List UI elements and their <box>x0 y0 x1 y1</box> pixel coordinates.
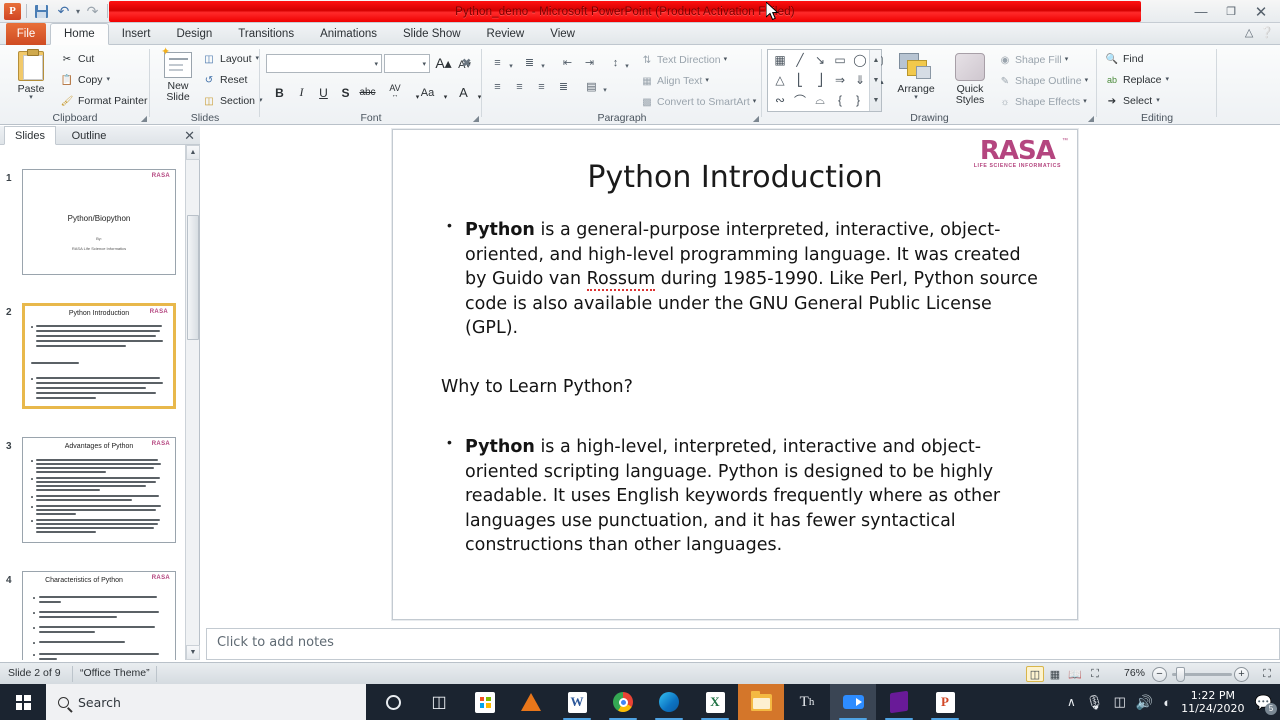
shape-fill-dropdown-icon[interactable]: ▾ <box>1065 57 1069 63</box>
redo-button[interactable]: ↷ <box>83 2 102 20</box>
onenote-icon[interactable] <box>876 684 922 720</box>
window-controls: — ❐ ✕ <box>1186 2 1276 21</box>
shape-triangle-icon[interactable]: △ <box>770 71 790 89</box>
drawing-dialog-launcher[interactable]: ◢ <box>1088 114 1094 123</box>
thumbnail-number: 3 <box>6 441 12 452</box>
paragraph-dialog-launcher[interactable]: ◢ <box>753 114 759 123</box>
numbering-dropdown-icon[interactable]: ▾ <box>538 56 548 75</box>
ribbon-group-editing: 🔍 Find ab Replace ▾ ➔ Select ▾ Editing <box>1097 45 1217 125</box>
slide-editing-area: RASA ™ LIFE SCIENCE INFORMATICS Python I… <box>200 126 1280 660</box>
ribbon-group-clipboard: Paste ▾ ✂ Cut 📋 Copy ▾ 🖌 Format Painter … <box>0 45 150 125</box>
scrollbar-thumb[interactable] <box>187 215 199 340</box>
status-divider-2 <box>156 666 157 682</box>
pane-tab-strip: Slides Outline ✕ <box>0 126 200 145</box>
shape-effects-dropdown-icon[interactable]: ▾ <box>1083 99 1087 105</box>
question-line[interactable]: Why to Learn Python? <box>441 375 1041 400</box>
file-explorer-icon[interactable] <box>738 684 784 720</box>
thumbnail-canvas[interactable]: RASA Python/Biopython By: RASA Life Scie… <box>22 169 176 275</box>
gallery-expand-icon[interactable]: ▼ <box>870 90 882 110</box>
quick-styles-label-2: Styles <box>956 94 985 106</box>
font-size-input[interactable]: ▾ <box>384 54 430 73</box>
windows-taskbar: Search ◫ W X <box>0 684 1280 720</box>
line-spacing-dropdown-icon[interactable]: ▾ <box>622 56 632 75</box>
text-direction-icon: ⇅ <box>640 53 654 67</box>
shape-elbow-icon[interactable]: ⎣ <box>790 71 810 89</box>
close-pane-icon[interactable]: ✕ <box>184 128 195 144</box>
mic-icon[interactable]: 🎙 <box>1086 694 1104 711</box>
thumbnail-subtitle-2: RASA Life Science Informatics <box>23 246 175 251</box>
taskbar-clock[interactable]: 1:22 PM 11/24/2020 <box>1181 689 1244 715</box>
decrease-indent-button[interactable]: ⇤ <box>558 53 577 72</box>
volume-icon[interactable]: 🔊 <box>1136 694 1153 711</box>
select-dropdown-icon[interactable]: ▾ <box>1156 98 1160 104</box>
sparkle-icon: ✦ <box>161 45 170 58</box>
convert-to-smartart-button[interactable]: ▩ Convert to SmartArt ▾ <box>640 95 756 109</box>
thumbnail-title: Python/Biopython <box>23 214 175 223</box>
thumbnail-slide-1[interactable]: 1 RASA Python/Biopython By: RASA Life Sc… <box>0 151 186 279</box>
view-slideshow-button[interactable]: ⛶ <box>1086 666 1104 682</box>
close-button[interactable]: ✕ <box>1246 2 1276 21</box>
slide-body-placeholder[interactable]: Python is a general-purpose interpreted,… <box>441 218 1041 558</box>
thumbnail-scrollbar[interactable]: ▲ ▼ <box>185 145 199 660</box>
shape-outline-label: Shape Outline <box>1015 75 1082 87</box>
change-case-button[interactable]: Aa <box>418 83 437 102</box>
shape-effects-button[interactable]: ☼ Shape Effects ▾ <box>998 95 1087 109</box>
windows-start-icon <box>16 695 31 710</box>
gallery-scroll-down-icon[interactable]: ▼ <box>870 70 882 90</box>
theme-name: “Office Theme” <box>80 667 150 679</box>
copy-label: Copy <box>78 74 103 86</box>
qat-divider-2 <box>107 4 108 18</box>
effects-icon: ☼ <box>998 95 1012 109</box>
notes-pane[interactable]: Click to add notes <box>206 628 1280 660</box>
scissors-icon: ✂ <box>60 52 74 66</box>
slide-title[interactable]: Python Introduction <box>393 160 1077 195</box>
reset-icon: ↺ <box>202 73 216 87</box>
tab-review[interactable]: Review <box>474 23 538 45</box>
wifi-icon[interactable]: ◐ <box>1163 695 1171 710</box>
align-center-button[interactable]: ≡ <box>510 77 529 96</box>
minimize-button[interactable]: — <box>1186 2 1216 21</box>
replace-label: Replace <box>1123 74 1162 86</box>
view-reading-button[interactable]: 📖 <box>1066 666 1084 682</box>
view-normal-button[interactable]: ◫ <box>1026 666 1044 682</box>
taskbar-search-input[interactable]: Search <box>46 684 366 720</box>
thumbnail-slide-3[interactable]: 3 RASA Advantages of Python <box>0 419 186 547</box>
numbering-button[interactable]: ≣ <box>520 53 539 72</box>
copy-button[interactable]: 📋 Copy ▾ <box>60 73 110 87</box>
thumbnail-rasa-logo: RASA <box>152 173 170 179</box>
notification-badge: 5 <box>1265 703 1277 715</box>
bullet1-lead: Python <box>465 220 535 240</box>
status-divider-1 <box>72 666 73 682</box>
cut-button[interactable]: ✂ Cut <box>60 52 94 66</box>
status-bar: Slide 2 of 9 “Office Theme” ◫ ▦ 📖 ⛶ 76% … <box>0 662 1280 684</box>
smartart-icon: ▩ <box>640 95 654 109</box>
paste-dropdown-icon[interactable]: ▾ <box>29 95 33 101</box>
shape-outline-dropdown-icon[interactable]: ▾ <box>1085 78 1089 84</box>
zoom-out-button[interactable]: − <box>1152 667 1167 682</box>
fit-slide-to-window-button[interactable]: ⛶ <box>1258 666 1276 682</box>
tab-view[interactable]: View <box>537 23 588 45</box>
excel-icon[interactable]: X <box>692 684 738 720</box>
replace-dropdown-icon[interactable]: ▾ <box>1166 77 1170 83</box>
strikethrough-button[interactable]: abc <box>358 83 377 102</box>
reset-button[interactable]: ↺ Reset <box>202 73 247 87</box>
group-divider-6 <box>1216 49 1217 117</box>
bullet-item-2[interactable]: Python is a high-level, interpreted, int… <box>441 435 1041 558</box>
current-slide[interactable]: RASA ™ LIFE SCIENCE INFORMATICS Python I… <box>392 129 1078 620</box>
arrange-button[interactable]: Arrange ▾ <box>890 49 942 111</box>
ribbon-group-font: ▾ ▾ A▴ A▾ ✖ B I U S abc AV↔ ▾ Aa ▾ A ▾ F… <box>260 45 482 125</box>
scroll-down-icon[interactable]: ▼ <box>186 645 200 660</box>
ribbon-help-area: △ ❔ <box>1245 26 1274 39</box>
shapes-gallery[interactable]: ▦ ╱ ↘ ▭ ◯ ▢ △ ⎣ ⎦ ⇒ ⇓ ☁ ∾ ⌒ ⌓ { } ☆ ▲ <box>767 49 882 112</box>
layout-label: Layout <box>220 53 252 65</box>
help-icon[interactable]: ❔ <box>1260 26 1274 39</box>
pencil-outline-icon: ✎ <box>998 74 1012 88</box>
clock-time: 1:22 PM <box>1181 689 1244 702</box>
increase-font-size-button[interactable]: A▴ <box>434 54 453 73</box>
powerpoint-icon[interactable]: P <box>922 684 968 720</box>
tab-transitions[interactable]: Transitions <box>225 23 307 45</box>
select-label: Select <box>1123 95 1152 107</box>
format-painter-button[interactable]: 🖌 Format Painter <box>60 94 147 108</box>
layout-icon: ◫ <box>202 52 216 66</box>
view-slide-sorter-button[interactable]: ▦ <box>1046 666 1064 682</box>
scroll-up-icon[interactable]: ▲ <box>186 145 200 160</box>
bullets-button[interactable]: ≡ <box>488 53 507 72</box>
copy-icon: 📋 <box>60 73 74 87</box>
text-direction-dropdown-icon[interactable]: ▾ <box>724 57 728 63</box>
ribbon-tabs: Home Insert Design Transitions Animation… <box>50 23 588 45</box>
drawing-group-label: Drawing <box>762 112 1097 124</box>
thumbnail-number: 1 <box>6 173 12 184</box>
zoom-icon[interactable] <box>830 684 876 720</box>
undo-dropdown-icon[interactable]: ▾ <box>76 7 80 16</box>
align-text-dropdown-icon[interactable]: ▾ <box>705 78 709 84</box>
notifications-icon[interactable]: 💬 5 <box>1255 694 1272 711</box>
columns-dropdown-icon[interactable]: ▾ <box>600 80 610 99</box>
undo-button[interactable]: ↶ <box>54 2 73 20</box>
thumbnail-title: Advantages of Python <box>23 443 175 450</box>
quick-styles-button[interactable]: Quick Styles <box>944 49 996 111</box>
font-name-dropdown-icon[interactable]: ▾ <box>374 60 378 68</box>
shape-down-arrow-icon[interactable]: ⇓ <box>850 71 870 89</box>
align-text-label: Align Text <box>657 75 702 87</box>
shape-textbox-icon[interactable]: ▦ <box>770 51 790 69</box>
thumbnail-title: Python Introduction <box>25 310 173 317</box>
shape-right-brace-icon[interactable]: } <box>848 91 868 109</box>
align-right-button[interactable]: ≡ <box>532 77 551 96</box>
zoom-level-label: 76% <box>1124 667 1145 679</box>
shape-rectangle-icon[interactable]: ▭ <box>830 51 850 69</box>
bold-button[interactable]: B <box>270 83 289 102</box>
tab-slide-show[interactable]: Slide Show <box>390 23 474 45</box>
tab-insert[interactable]: Insert <box>109 23 164 45</box>
thumbnail-canvas[interactable]: RASA Characteristics of Python <box>22 571 176 660</box>
thumbnail-title: Characteristics of Python <box>23 577 175 584</box>
shape-effects-label: Shape Effects <box>1015 96 1080 108</box>
shape-scribble-icon[interactable]: ∾ <box>770 91 790 109</box>
thumbnail-number: 2 <box>6 307 12 318</box>
ribbon-group-drawing: ▦ ╱ ↘ ▭ ◯ ▢ △ ⎣ ⎦ ⇒ ⇓ ☁ ∾ ⌒ ⌓ { } ☆ ▲ <box>762 45 1097 125</box>
edge-icon[interactable] <box>646 684 692 720</box>
task-view-icon[interactable]: ◫ <box>416 684 462 720</box>
powerpoint-window: P ↶ ▾ ↷ ▾ Python_demo - Microsoft PowerP… <box>0 0 1280 720</box>
minimize-ribbon-icon[interactable]: △ <box>1245 26 1253 39</box>
select-button[interactable]: ➔ Select ▾ <box>1105 94 1160 108</box>
search-placeholder: Search <box>78 695 121 710</box>
clipboard-icon <box>18 51 44 81</box>
layout-button[interactable]: ◫ Layout ▾ <box>202 52 259 66</box>
show-hidden-icons-icon[interactable]: ∧ <box>1067 695 1076 709</box>
convert-smartart-label: Convert to SmartArt <box>657 96 750 108</box>
section-button[interactable]: ◫ Section ▾ <box>202 94 263 108</box>
section-icon: ◫ <box>202 94 216 108</box>
thumbnail-number: 4 <box>6 575 12 586</box>
shape-arrow-icon[interactable]: ↘ <box>810 51 830 69</box>
zoom-in-button[interactable]: + <box>1234 667 1249 682</box>
italic-button[interactable]: I <box>292 83 311 102</box>
shape-left-brace-icon[interactable]: { <box>830 91 850 109</box>
find-button[interactable]: 🔍 Find <box>1105 52 1143 66</box>
shape-right-arrow-icon[interactable]: ⇒ <box>830 71 850 89</box>
thumbnail-canvas[interactable]: RASA Advantages of Python <box>22 437 176 543</box>
slide-thumbnail-list[interactable]: 1 RASA Python/Biopython By: RASA Life Sc… <box>0 145 186 660</box>
powerpoint-app-icon[interactable]: P <box>4 3 21 20</box>
smartart-dropdown-icon[interactable]: ▾ <box>753 99 757 105</box>
trademark-icon: ™ <box>1062 138 1068 144</box>
ribbon-group-paragraph: ≡ ▾ ≣ ▾ ⇤ ⇥ ↕ ▾ ≡ ≡ ≡ ≣ ▤ ▾ ⇅ Text Direc… <box>482 45 762 125</box>
window-title: Python_demo - Microsoft PowerPoint (Prod… <box>455 6 795 18</box>
align-text-button[interactable]: ▦ Align Text ▾ <box>640 74 709 88</box>
slide-counter: Slide 2 of 9 <box>8 667 61 679</box>
shape-line-icon[interactable]: ╱ <box>790 51 810 69</box>
tab-slides-pane[interactable]: Slides <box>4 126 56 145</box>
clear-formatting-button[interactable]: ✖ <box>457 53 476 72</box>
chrome-icon[interactable] <box>600 684 646 720</box>
bullet2-text: is a high-level, interpreted, interactiv… <box>465 437 1000 555</box>
paragraph-group-label: Paragraph <box>482 112 762 124</box>
tab-design[interactable]: Design <box>163 23 225 45</box>
fonts-icon[interactable]: Th <box>784 684 830 720</box>
justify-button[interactable]: ≣ <box>554 77 573 96</box>
font-dialog-launcher[interactable]: ◢ <box>473 114 479 123</box>
section-label: Section <box>220 95 255 107</box>
change-case-dropdown-icon[interactable]: ▾ <box>436 87 455 106</box>
align-text-icon: ▦ <box>640 74 654 88</box>
tab-animations[interactable]: Animations <box>307 23 390 45</box>
find-label: Find <box>1123 53 1143 65</box>
paintbrush-icon: 🖌 <box>60 94 74 108</box>
binoculars-icon: 🔍 <box>1105 52 1119 66</box>
title-bar: P ↶ ▾ ↷ ▾ Python_demo - Microsoft PowerP… <box>0 0 1280 23</box>
clipboard-group-label: Clipboard <box>0 112 150 124</box>
bullet-item-1[interactable]: Python is a general-purpose interpreted,… <box>441 218 1041 341</box>
bullet2-lead: Python <box>465 437 535 457</box>
editing-group-label: Editing <box>1097 112 1217 124</box>
shape-fill-label: Shape Fill <box>1015 54 1062 66</box>
font-group-label: Font <box>260 112 482 124</box>
character-spacing-button[interactable]: AV↔ <box>382 81 408 100</box>
notes-placeholder: Click to add notes <box>217 635 334 650</box>
copy-dropdown-icon[interactable]: ▾ <box>107 77 111 83</box>
thumbnail-subtitle-1: By: <box>23 236 175 241</box>
shape-oval-icon[interactable]: ◯ <box>850 51 870 69</box>
shapes-gallery-scrollbar[interactable]: ▲ ▼ ▼ <box>869 50 881 111</box>
shape-fill-button[interactable]: ◉ Shape Fill ▾ <box>998 53 1068 67</box>
thumbnail-canvas-selected[interactable]: RASA Python Introduction <box>22 303 176 409</box>
clipboard-dialog-launcher[interactable]: ◢ <box>141 114 147 123</box>
pointer-icon: ➔ <box>1105 94 1119 108</box>
paste-button[interactable]: Paste ▾ <box>8 49 54 111</box>
word-icon[interactable]: W <box>554 684 600 720</box>
text-direction-button[interactable]: ⇅ Text Direction ▾ <box>640 53 727 67</box>
shape-outline-button[interactable]: ✎ Shape Outline ▾ <box>998 74 1088 88</box>
ribbon-tab-strip: File Home Insert Design Transitions Anim… <box>0 23 1280 45</box>
new-slide-label-line2: Slide <box>166 91 189 103</box>
shape-curve-icon[interactable]: ⌒ <box>790 91 810 109</box>
mouse-cursor <box>766 2 779 21</box>
format-painter-label: Format Painter <box>78 95 147 107</box>
reset-label: Reset <box>220 74 247 86</box>
arrange-icon <box>899 53 933 81</box>
arrange-dropdown-icon[interactable]: ▾ <box>914 95 918 101</box>
thumbnail-slide-2[interactable]: 2 RASA Python Introduction <box>0 285 186 413</box>
bullets-dropdown-icon[interactable]: ▾ <box>506 56 516 75</box>
cortana-icon[interactable] <box>370 684 416 720</box>
qat-divider <box>26 4 27 18</box>
underline-button[interactable]: U <box>314 83 333 102</box>
thumbnail-slide-4[interactable]: 4 RASA Characteristics of Python <box>0 553 186 660</box>
gallery-scroll-up-icon[interactable]: ▲ <box>870 50 882 70</box>
start-button[interactable] <box>0 684 46 720</box>
cut-label: Cut <box>78 53 94 65</box>
tab-file[interactable]: File <box>6 23 46 45</box>
increase-indent-button[interactable]: ⇥ <box>580 53 599 72</box>
quick-access-toolbar: P ↶ ▾ ↷ ▾ <box>4 2 117 20</box>
ribbon-group-slides: ✦ New Slide ◫ Layout ▾ ↺ Reset ◫ Section… <box>150 45 260 125</box>
align-left-button[interactable]: ≡ <box>488 77 507 96</box>
new-slide-button[interactable]: ✦ New Slide <box>155 49 201 111</box>
replace-icon: ab <box>1105 73 1119 87</box>
tab-home[interactable]: Home <box>50 23 109 45</box>
microsoft-store-icon[interactable] <box>462 684 508 720</box>
tab-outline-pane[interactable]: Outline <box>58 126 120 145</box>
save-icon <box>35 5 48 18</box>
shape-arc-icon[interactable]: ⌓ <box>810 91 830 109</box>
window-title-bar-band: Python_demo - Microsoft PowerPoint (Prod… <box>109 1 1141 22</box>
text-shadow-button[interactable]: S <box>336 83 355 102</box>
save-button[interactable] <box>32 2 51 20</box>
font-size-dropdown-icon[interactable]: ▾ <box>422 60 426 68</box>
font-name-input[interactable]: ▾ <box>266 54 382 73</box>
clock-date: 11/24/2020 <box>1181 702 1244 715</box>
columns-button[interactable]: ▤ <box>582 77 601 96</box>
slides-outline-pane: Slides Outline ✕ 1 RASA Python/Biopython… <box>0 126 200 660</box>
ribbon: Paste ▾ ✂ Cut 📋 Copy ▾ 🖌 Format Painter … <box>0 45 1280 125</box>
vlc-icon[interactable] <box>508 684 554 720</box>
zoom-slider-handle[interactable] <box>1176 667 1185 682</box>
restore-button[interactable]: ❐ <box>1216 2 1246 21</box>
quick-styles-icon <box>955 53 985 81</box>
text-direction-label: Text Direction <box>657 54 721 66</box>
paint-bucket-icon: ◉ <box>998 53 1012 67</box>
misspelled-word: Rossum <box>587 269 655 291</box>
slides-group-label: Slides <box>150 112 260 124</box>
search-icon <box>58 697 69 708</box>
battery-icon[interactable]: ◫ <box>1114 694 1126 710</box>
system-tray: ∧ 🎙 ◫ 🔊 ◐ 1:22 PM 11/24/2020 💬 5 <box>1067 684 1280 720</box>
shape-elbow2-icon[interactable]: ⎦ <box>810 71 830 89</box>
replace-button[interactable]: ab Replace ▾ <box>1105 73 1169 87</box>
